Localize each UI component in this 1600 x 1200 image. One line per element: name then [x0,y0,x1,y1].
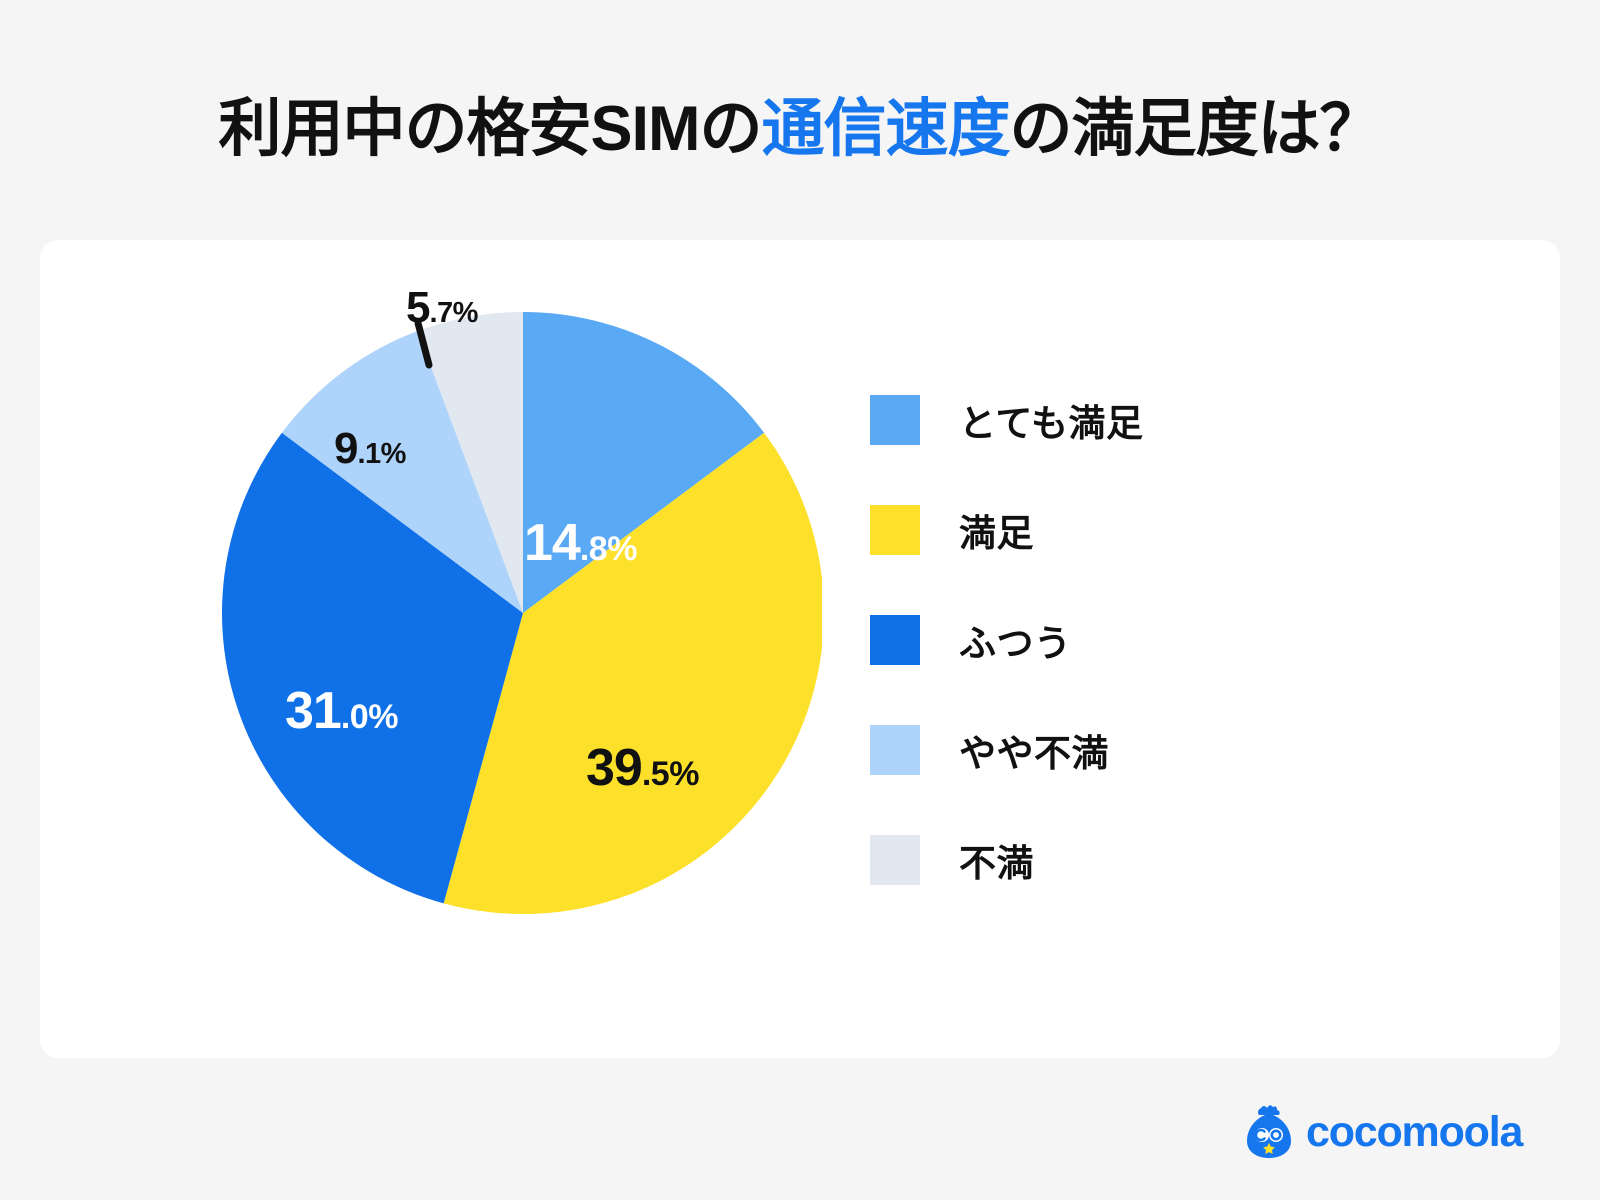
chart-card: 14.8% 39.5% 31.0% 9.1% 5.7% とても満足 満足 ふつう [40,240,1560,1058]
legend-swatch-icon [870,615,920,665]
legend-swatch-icon [870,395,920,445]
page-title-before: 利用中の格安SIMの [218,94,761,164]
legend-item-label: やや不満 [959,723,1109,777]
cocomoola-mascot-icon [1243,1104,1295,1160]
legend-item-neutral[interactable]: ふつう [870,615,1270,665]
legend-item-very-satisfied[interactable]: とても満足 [870,395,1270,445]
legend-item-slightly-dissatisfied[interactable]: やや不満 [870,725,1270,775]
legend-item-label: ふつう [959,613,1072,667]
legend-swatch-icon [870,505,920,555]
legend-item-label: 不満 [959,833,1034,887]
legend-item-label: 満足 [959,503,1034,557]
page-title-after: の満足度は？ [1010,94,1382,164]
legend-item-satisfied[interactable]: 満足 [870,505,1270,555]
brand-logo[interactable]: cocomoola [1243,1104,1522,1160]
legend-item-dissatisfied[interactable]: 不満 [870,835,1270,885]
page-title-highlight: 通信速度 [762,94,1010,164]
brand-wordmark: cocomoola [1306,1111,1522,1154]
page-title: 利用中の格安SIMの通信速度の満足度は？ [0,78,1600,169]
legend-swatch-icon [870,725,920,775]
legend: とても満足 満足 ふつう やや不満 不満 [870,395,1270,885]
pie-chart: 14.8% 39.5% 31.0% 9.1% 5.7% [182,305,822,945]
legend-item-label: とても満足 [959,393,1144,447]
pie-chart-svg [182,305,822,945]
legend-swatch-icon [870,835,920,885]
